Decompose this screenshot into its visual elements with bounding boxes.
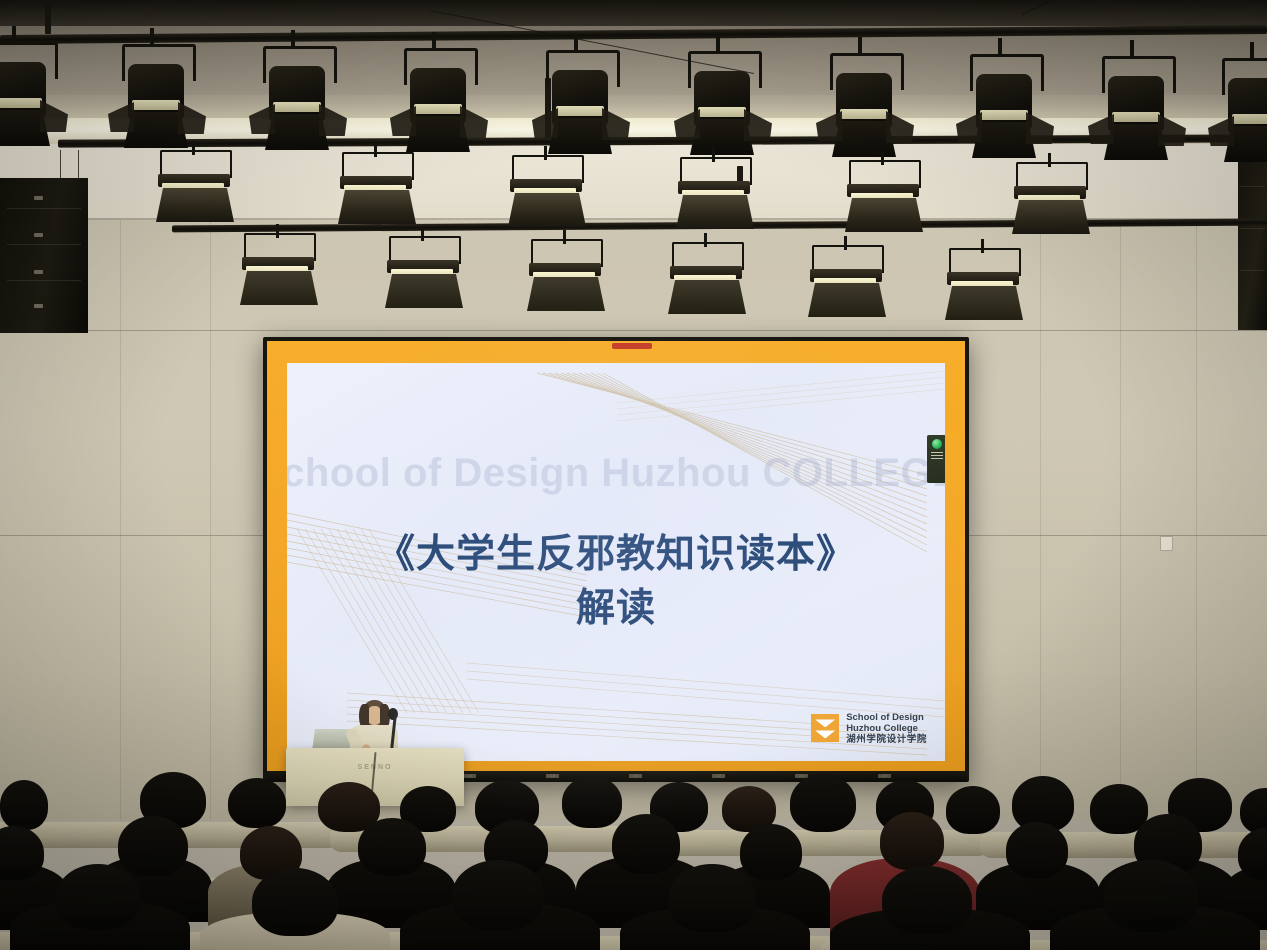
audience-head [1104, 860, 1198, 932]
stage-floodlight [845, 160, 923, 236]
audience-head [562, 776, 622, 828]
lecture-hall-photo: School of Design Huzhou COLLEGE 《大学生反邪教知… [0, 0, 1267, 950]
audience-head [56, 864, 140, 930]
wall-seam [120, 220, 121, 820]
stage-floodlight [156, 150, 234, 226]
logo-text: School of Design Huzhou College 湖州学院设计学院 [846, 712, 927, 745]
logo-line-cn: 湖州学院设计学院 [846, 734, 927, 745]
stage-spotlight [110, 38, 202, 156]
speaker-led [34, 196, 43, 200]
badge-label-lines [931, 452, 943, 459]
stage-floodlight [1012, 162, 1090, 238]
audience-head [880, 812, 944, 870]
line-array-speaker-left [0, 178, 88, 333]
audience-head [358, 818, 426, 876]
audience-head [668, 864, 756, 932]
stage-floodlight [385, 236, 463, 312]
stage-spotlight [534, 44, 626, 162]
audience-head [740, 824, 802, 880]
wall-trim-line [0, 330, 1267, 331]
truss-drop-pole [45, 0, 51, 34]
stage-spotlight [251, 40, 343, 158]
ceiling-dark-strip [0, 0, 1267, 26]
stage-spotlight [0, 36, 64, 154]
line-array-speaker-right [1238, 150, 1267, 330]
stage-floodlight [338, 152, 416, 228]
speaker-led [34, 270, 43, 274]
green-status-dot-icon [932, 439, 942, 449]
slide-watermark: School of Design Huzhou COLLEGE [287, 451, 945, 496]
stage-floodlight [808, 245, 886, 321]
stage-floodlight [668, 242, 746, 318]
audience-head [1006, 822, 1068, 878]
audience-head [882, 866, 972, 934]
stage-floodlight [527, 239, 605, 315]
audience [0, 760, 1267, 950]
audience-head [228, 778, 286, 828]
stage-floodlight [676, 157, 754, 233]
stage-spotlight [1090, 50, 1182, 168]
stage-floodlight [240, 233, 318, 309]
audience-head [118, 816, 188, 876]
wall-seam [210, 220, 211, 820]
stage-floodlight [508, 155, 586, 231]
logo-mark-icon [811, 714, 839, 742]
audience-head [612, 814, 680, 874]
speaker-led [34, 233, 43, 237]
wall-seam [1196, 220, 1197, 820]
stage-spotlight [818, 47, 910, 165]
audience-head [790, 774, 856, 832]
stage-spotlight [392, 42, 484, 160]
audience-head [946, 786, 1000, 834]
logo-line-en-1: School of Design [846, 712, 927, 723]
wall-seam [1040, 220, 1041, 820]
status-badge [927, 435, 945, 483]
stage-spotlight [1210, 52, 1267, 170]
slide-title-line-1: 《大学生反邪教知识读本》 [287, 531, 945, 579]
speaker-led [34, 304, 43, 308]
school-logo: School of Design Huzhou College 湖州学院设计学院 [811, 712, 927, 745]
audience-head [0, 780, 48, 830]
audience-head [252, 868, 338, 936]
logo-line-en-2: Huzhou College [846, 723, 927, 734]
wall-outlet [1160, 536, 1173, 551]
wall-seam [1120, 220, 1121, 820]
stage-spotlight [958, 48, 1050, 166]
stage-spotlight [676, 45, 768, 163]
screen-top-marker [612, 343, 652, 349]
audience-head [452, 860, 544, 930]
slide-title: 《大学生反邪教知识读本》 解读 [287, 531, 945, 632]
stage-floodlight [945, 248, 1023, 324]
slide-title-line-2: 解读 [287, 585, 945, 633]
